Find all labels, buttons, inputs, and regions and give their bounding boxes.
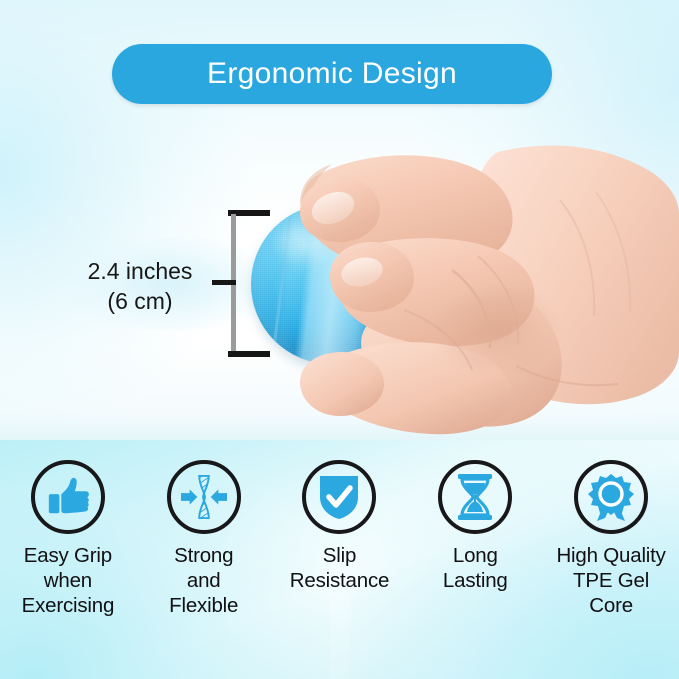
shield-check-icon [317, 473, 361, 521]
feature-icon-circle [574, 460, 648, 534]
hand-photo [0, 0, 679, 440]
feature-strong-flexible[interactable]: Strong and Flexible [136, 460, 272, 679]
feature-slip-resistance[interactable]: Slip Resistance [272, 460, 408, 679]
feature-tpe-gel-core[interactable]: High Quality TPE Gel Core [543, 460, 679, 679]
palm-shadow [432, 282, 564, 378]
award-rosette-icon [588, 473, 634, 521]
feature-icon-circle [31, 460, 105, 534]
feature-long-lasting[interactable]: Long Lasting [407, 460, 543, 679]
feature-label: Strong and Flexible [169, 543, 238, 618]
stretch-arrows-icon [179, 474, 229, 520]
hourglass-icon [454, 473, 496, 521]
feature-label: Long Lasting [443, 543, 508, 593]
feature-label: High Quality TPE Gel Core [556, 543, 665, 618]
feature-icon-circle [302, 460, 376, 534]
thumb-tip [300, 352, 384, 416]
product-infographic: Ergonomic Design 2.4 inches (6 cm) [0, 0, 679, 679]
feature-label: Easy Grip when Exercising [22, 543, 115, 618]
feature-easy-grip[interactable]: Easy Grip when Exercising [0, 460, 136, 679]
thumbs-up-icon [45, 474, 91, 520]
feature-label: Slip Resistance [290, 543, 389, 593]
feature-icon-circle [438, 460, 512, 534]
feature-icon-circle [167, 460, 241, 534]
feature-list: Easy Grip when Exercising [0, 460, 679, 679]
